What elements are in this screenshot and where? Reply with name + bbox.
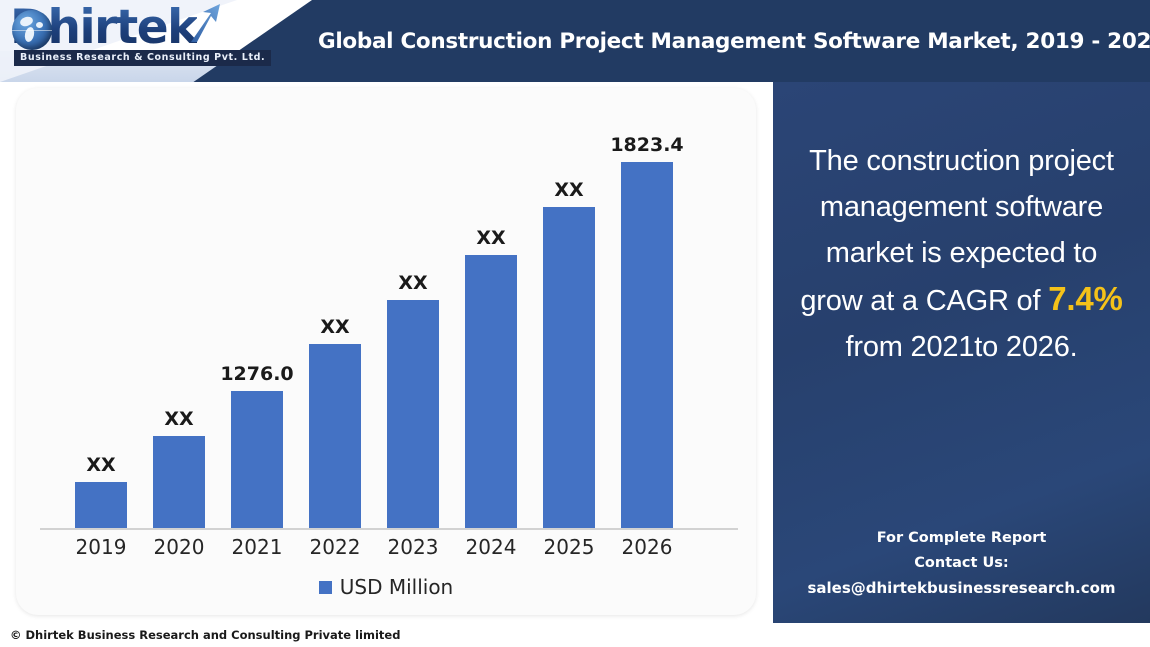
bar-2019[interactable] bbox=[75, 482, 127, 528]
insight-panel: The construction project management soft… bbox=[773, 82, 1150, 623]
bar-value-label-2021: 1276.0 bbox=[218, 363, 296, 385]
bar-2021[interactable] bbox=[231, 391, 283, 528]
market-statement: The construction project management soft… bbox=[791, 110, 1132, 370]
globe-icon bbox=[12, 10, 52, 50]
x-tick-2024: 2024 bbox=[452, 535, 530, 559]
chart-legend[interactable]: USD Million bbox=[16, 575, 756, 599]
x-axis-line bbox=[40, 528, 738, 530]
bar-slot-2022: XX bbox=[296, 98, 374, 528]
x-tick-2023: 2023 bbox=[374, 535, 452, 559]
bar-2024[interactable] bbox=[465, 255, 517, 528]
bar-2023[interactable] bbox=[387, 300, 439, 528]
bar-2020[interactable] bbox=[153, 436, 205, 528]
chart-card: XX XX 1276.0 XX XX XX XX 1823.4 bbox=[16, 88, 756, 615]
contact-heading: For Complete Report bbox=[773, 526, 1150, 551]
bar-slot-2021: 1276.0 bbox=[218, 98, 296, 528]
bar-slot-2023: XX bbox=[374, 98, 452, 528]
bar-slot-2019: XX bbox=[62, 98, 140, 528]
x-tick-2021: 2021 bbox=[218, 535, 296, 559]
bar-value-label-2023: XX bbox=[374, 272, 452, 294]
cagr-value: 7.4% bbox=[1048, 280, 1122, 317]
legend-color-swatch bbox=[319, 581, 332, 594]
bar-value-label-2022: XX bbox=[296, 316, 374, 338]
bar-slot-2024: XX bbox=[452, 98, 530, 528]
growth-arrow-icon bbox=[189, 3, 223, 43]
bar-2025[interactable] bbox=[543, 207, 595, 528]
bar-2022[interactable] bbox=[309, 344, 361, 528]
x-tick-2022: 2022 bbox=[296, 535, 374, 559]
header-bar: Dhirtek Business Research & Consulting P… bbox=[0, 0, 1150, 82]
bar-chart-plot-area: XX XX 1276.0 XX XX XX XX 1823.4 bbox=[40, 98, 740, 530]
contact-block: For Complete Report Contact Us: sales@dh… bbox=[773, 526, 1150, 601]
copyright-footer: © Dhirtek Business Research and Consulti… bbox=[10, 628, 400, 642]
bar-slot-2025: XX bbox=[530, 98, 608, 528]
company-logo[interactable]: Dhirtek Business Research & Consulting P… bbox=[6, 2, 236, 72]
bar-slot-2020: XX bbox=[140, 98, 218, 528]
contact-subheading: Contact Us: bbox=[773, 551, 1150, 576]
bar-value-label-2026: 1823.4 bbox=[608, 134, 686, 156]
x-tick-2019: 2019 bbox=[62, 535, 140, 559]
bar-2026[interactable] bbox=[621, 162, 673, 528]
x-tick-2020: 2020 bbox=[140, 535, 218, 559]
bar-value-label-2020: XX bbox=[140, 408, 218, 430]
contact-email-link[interactable]: sales@dhirtekbusinessresearch.com bbox=[773, 576, 1150, 601]
bar-value-label-2025: XX bbox=[530, 179, 608, 201]
legend-label: USD Million bbox=[340, 575, 454, 599]
page-title: Global Construction Project Management S… bbox=[318, 0, 1150, 82]
statement-text-after: from 2021to 2026. bbox=[846, 331, 1078, 363]
x-tick-2025: 2025 bbox=[530, 535, 608, 559]
bar-value-label-2019: XX bbox=[62, 454, 140, 476]
bar-value-label-2024: XX bbox=[452, 227, 530, 249]
x-axis-tick-labels: 2019 2020 2021 2022 2023 2024 2025 2026 bbox=[40, 535, 740, 567]
x-tick-2026: 2026 bbox=[608, 535, 686, 559]
logo-tagline: Business Research & Consulting Pvt. Ltd. bbox=[14, 50, 271, 66]
bar-slot-2026: 1823.4 bbox=[608, 98, 686, 528]
